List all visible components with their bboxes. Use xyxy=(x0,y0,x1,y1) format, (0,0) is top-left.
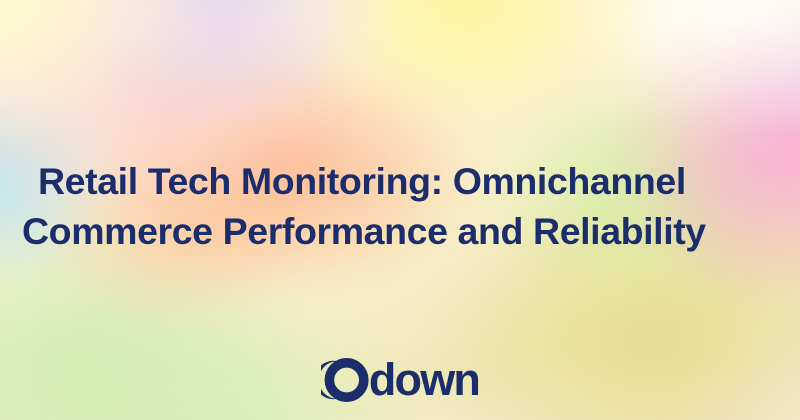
odown-article-banner: Retail Tech Monitoring: Omnichannel Comm… xyxy=(0,0,800,420)
odown-logo[interactable]: down xyxy=(0,352,800,408)
odown-o-mark-icon xyxy=(321,357,369,403)
title-line-1: Retail Tech Monitoring: Omnichannel xyxy=(38,156,778,206)
title-line-2: Commerce Performance and Reliability xyxy=(22,206,778,256)
odown-wordmark: down xyxy=(369,357,479,403)
page-title: Retail Tech Monitoring: Omnichannel Comm… xyxy=(38,156,778,256)
